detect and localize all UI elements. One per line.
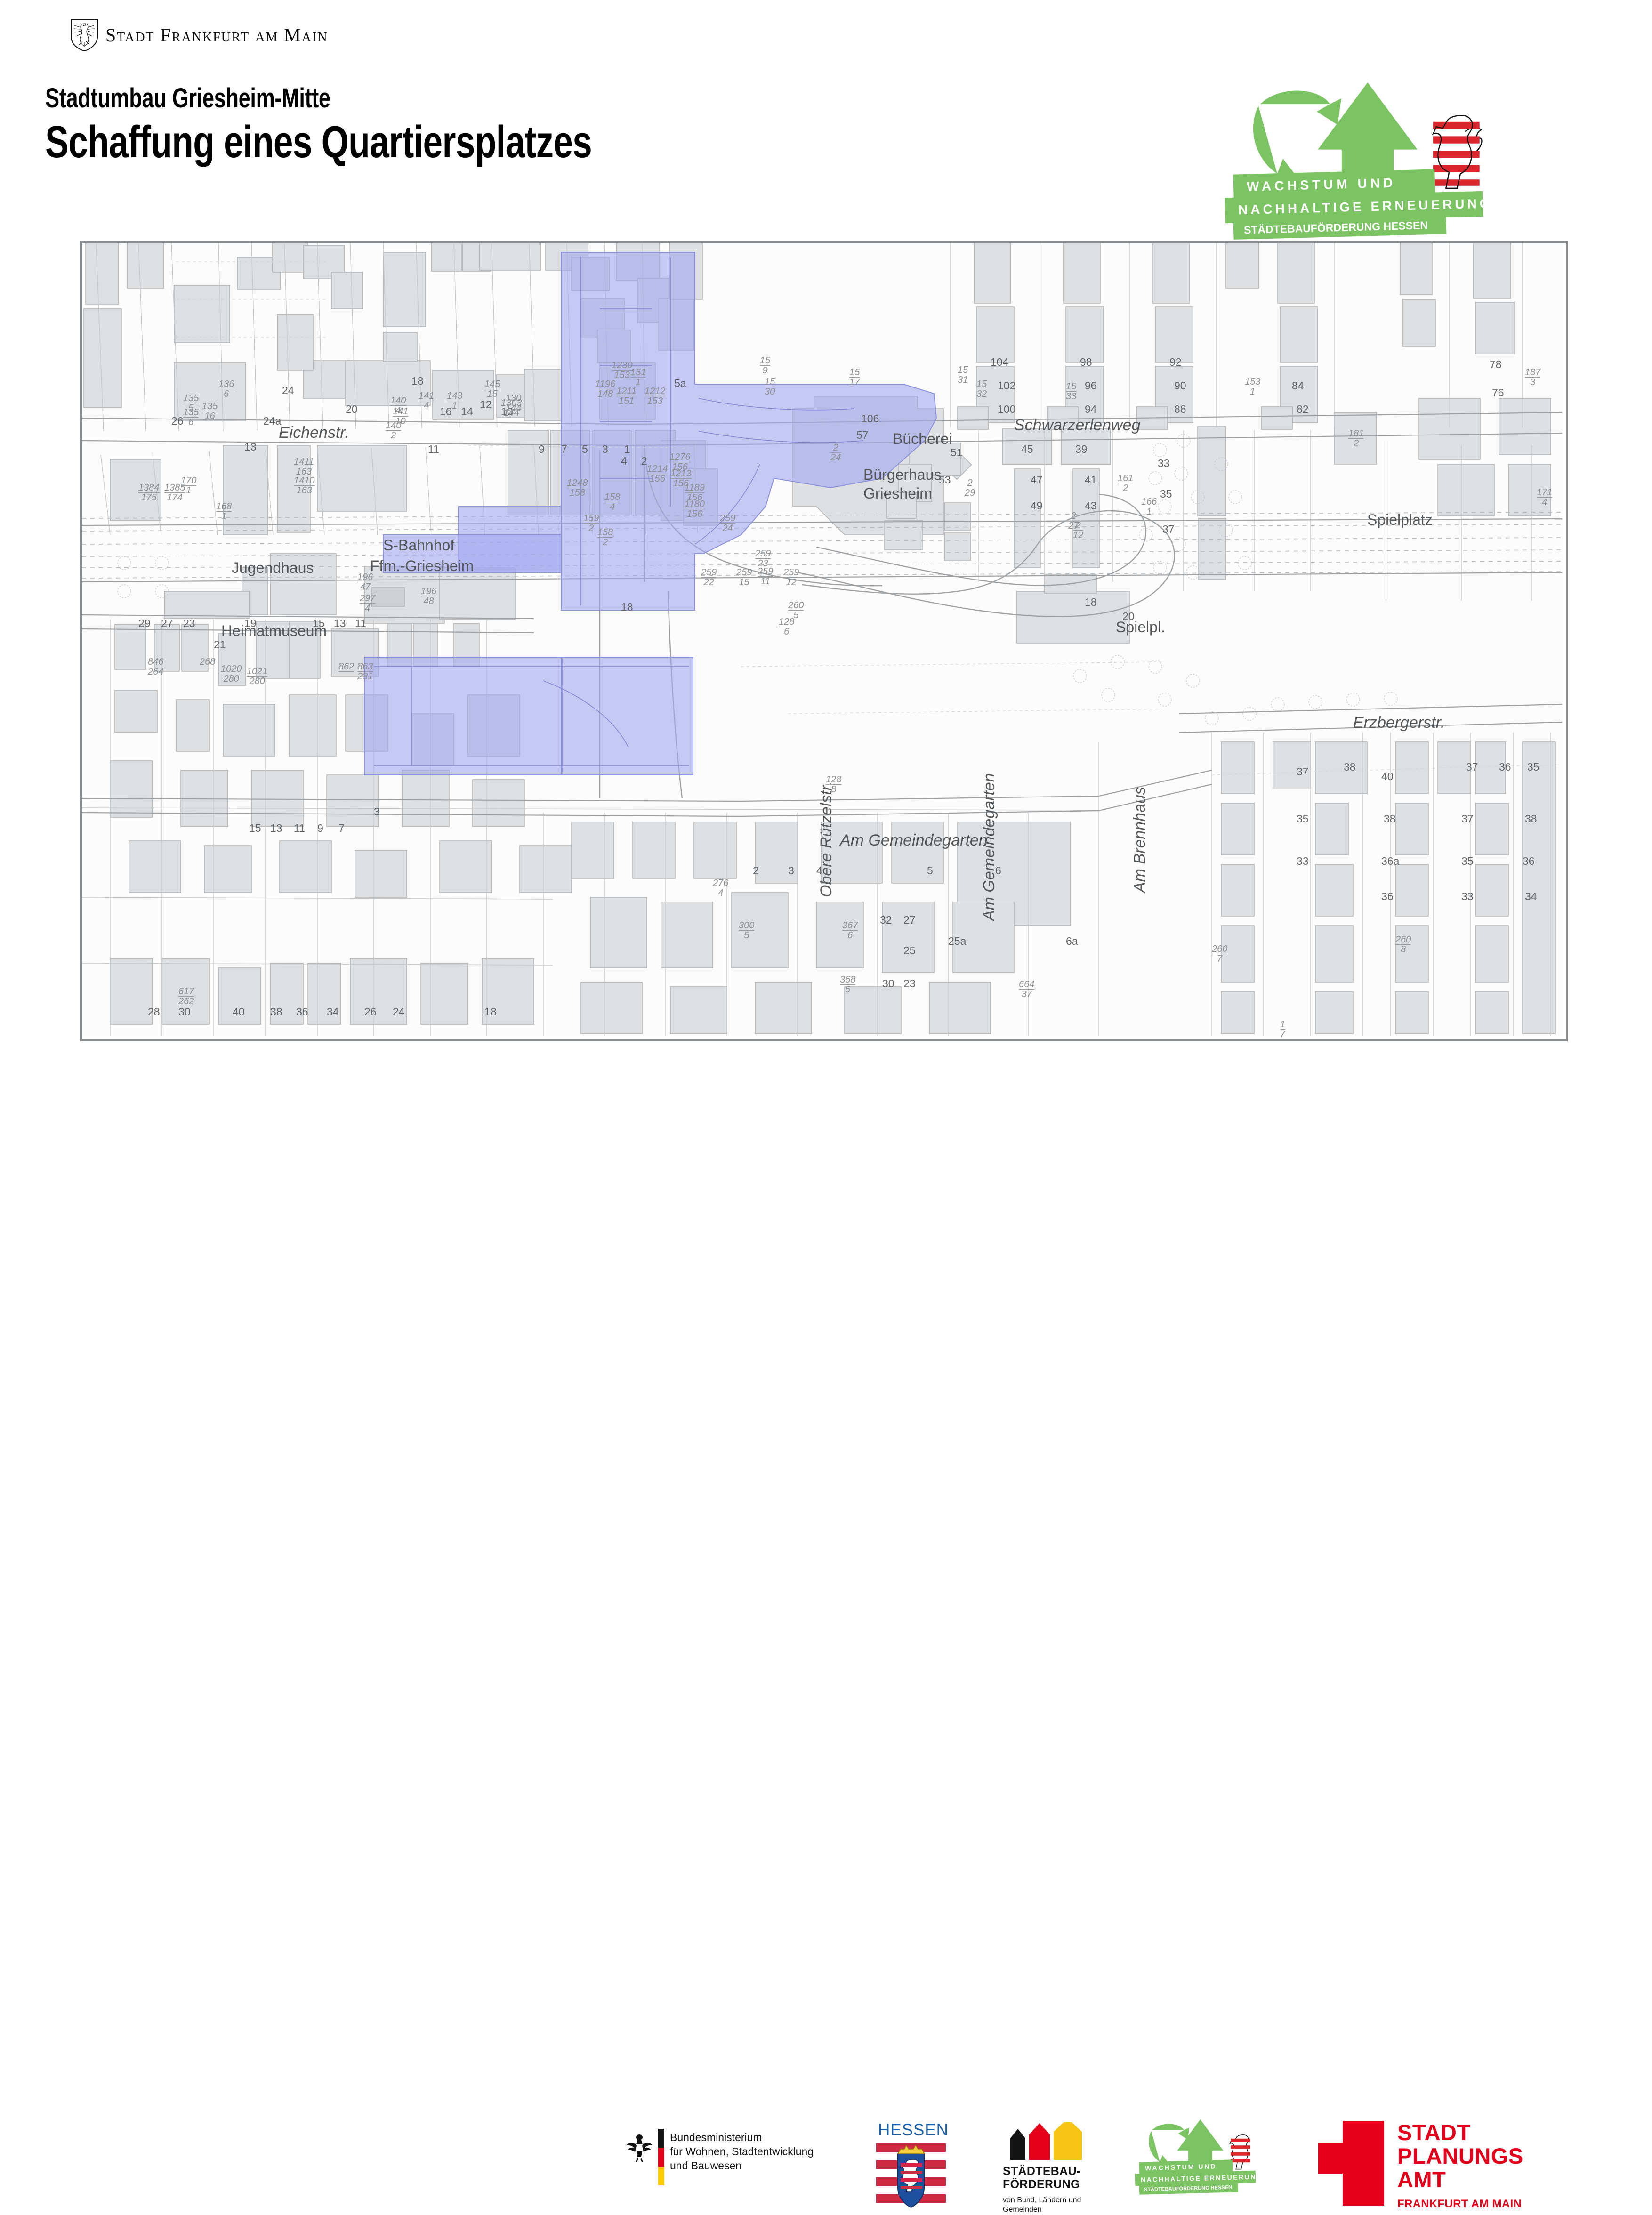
house-number: 36	[1381, 890, 1394, 903]
house-number: 19	[244, 617, 257, 630]
house-number: 13	[334, 617, 346, 630]
parcel-number: 1288	[826, 775, 841, 794]
house-number: 5	[927, 864, 933, 877]
house-number: 37	[1466, 761, 1478, 773]
page-kicker: Stadtumbau Griesheim-Mitte	[45, 85, 592, 112]
map-canvas[interactable]: Eichenstr. Schwarzerlenweg Am Gemeindega…	[82, 243, 1562, 1036]
house-number: 23	[903, 977, 916, 990]
house-number: 43	[1085, 499, 1097, 512]
house-number: 9	[539, 443, 545, 456]
house-number: 13	[244, 441, 257, 453]
city-logo-wordmark: Stadt Frankfurt am Main	[105, 24, 328, 46]
parcel-number: 1533	[1066, 382, 1076, 401]
house-number: 20	[1122, 610, 1135, 623]
house-number: 4	[621, 455, 627, 467]
parcel-number: 1592	[583, 514, 599, 533]
parcel-number: 1214156	[647, 464, 668, 483]
house-number: 27	[903, 914, 916, 926]
parcel-number: 1714	[1537, 488, 1552, 507]
house-number: 14	[461, 405, 473, 418]
house-number: 21	[214, 638, 226, 651]
house-number: 49	[1031, 499, 1043, 512]
parcel-number: 25911	[758, 567, 773, 586]
stadtplanungsamt-logo: STADT PLANUNGS AMT FRANKFURT AM MAIN	[1318, 2121, 1582, 2215]
parcel-number: 1248158	[567, 478, 588, 498]
house-number: 96	[1085, 379, 1097, 392]
hessen-coat-of-arms-icon	[873, 2142, 949, 2211]
parcel-number: 1530	[765, 377, 775, 396]
house-number: 2	[641, 455, 647, 467]
parcel-number: 1531	[1245, 377, 1260, 396]
parcel-number: 863281	[357, 662, 373, 681]
house-number: 40	[1381, 770, 1394, 783]
house-number: 104	[991, 356, 1008, 369]
house-number: 94	[1085, 403, 1097, 416]
house-number: 40	[233, 1006, 245, 1018]
house-number: 18	[621, 601, 633, 613]
house-number: 24	[393, 1006, 405, 1018]
house-number: 33	[1297, 855, 1309, 868]
house-number: 51	[951, 446, 963, 459]
house-number: 18	[484, 1006, 497, 1018]
parcel-number: 1661	[1141, 497, 1157, 516]
parcel-number: 229	[965, 478, 975, 498]
house-number: 38	[1384, 813, 1396, 825]
parcel-number: 268	[200, 657, 215, 667]
house-number: 25a	[948, 935, 966, 948]
parcel-number: 13516	[202, 402, 218, 421]
staedtebau-line2: FÖRDERUNG	[1003, 2178, 1111, 2191]
parcel-number: 1411163	[294, 457, 314, 476]
house-number: 26	[171, 415, 184, 427]
spa-line1: STADT	[1397, 2121, 1523, 2144]
house-number: 23	[183, 617, 195, 630]
house-number: 26	[364, 1006, 377, 1018]
house-number: 5a	[674, 377, 686, 390]
staedtebaufoerderung-logo: STÄDTEBAU- FÖRDERUNG von Bund, Ländern u…	[1003, 2123, 1111, 2213]
house-number: 36	[1499, 761, 1511, 773]
parcel-number: 1384175	[138, 483, 160, 502]
bmwsb-line3: und Bauwesen	[670, 2159, 814, 2173]
parcel-number: 3686	[840, 975, 855, 994]
house-number: 30	[178, 1006, 191, 1018]
house-number: 45	[1021, 443, 1033, 456]
house-number: 7	[561, 443, 567, 456]
spa-subline: FRANKFURT AM MAIN	[1397, 2198, 1523, 2211]
house-number: 36	[296, 1006, 308, 1018]
house-number: 34	[327, 1006, 339, 1018]
title-block: Stadtumbau Griesheim-Mitte Schaffung ein…	[45, 85, 746, 165]
parcel-number: 1356	[183, 408, 199, 427]
parcel-number: 3676	[842, 921, 858, 940]
bmwsb-line1: Bundesministerium	[670, 2131, 814, 2145]
hessen-wordmark: HESSEN	[873, 2121, 953, 2140]
bundesadler-icon	[626, 2132, 653, 2163]
house-number: 11	[355, 617, 366, 630]
house-number: 35	[1527, 761, 1539, 773]
staedtebau-line1: STÄDTEBAU-	[1003, 2165, 1111, 2178]
house-number: 35	[1297, 813, 1309, 825]
stadtplanungsamt-wordmark: STADT PLANUNGS AMT FRANKFURT AM MAIN	[1397, 2121, 1523, 2215]
house-number: 36	[1523, 855, 1535, 868]
parcel-number: 1531	[958, 365, 968, 385]
page-title: Schaffung eines Quartiersplatzes	[45, 120, 592, 165]
house-number: 15	[249, 822, 261, 835]
hessen-lion-icon	[1426, 111, 1483, 191]
parcel-number: 2764	[713, 878, 728, 898]
house-number: 1	[624, 443, 630, 456]
parcel-number: 159	[760, 356, 770, 375]
parcel-number: 1402	[386, 421, 401, 440]
parcel-number: 1701	[181, 476, 196, 495]
parcel-number: 1582	[597, 528, 613, 547]
house-number: 6a	[1066, 935, 1078, 948]
house-number: 57	[856, 429, 869, 442]
house-number: 24a	[263, 415, 281, 427]
bmwsb-wordmark: Bundesministerium für Wohnen, Stadtentwi…	[670, 2129, 814, 2173]
parcel-number: 25915	[736, 568, 752, 587]
house-number: 33	[1158, 457, 1170, 470]
house-number: 38	[1525, 813, 1537, 825]
parcel-number: 2974	[360, 594, 375, 613]
house-number: 28	[148, 1006, 160, 1018]
parcel-number: 25912	[783, 568, 799, 587]
parcel-number: 2607	[1212, 944, 1227, 964]
parcel-number: 2608	[1395, 935, 1411, 954]
parcel-number: 1230153	[612, 361, 633, 380]
parcel-number: 224	[830, 443, 841, 462]
house-number: 2	[753, 864, 759, 877]
house-number: 13	[270, 822, 282, 835]
hessen-logo: HESSEN	[873, 2121, 953, 2210]
house-number: 15	[313, 617, 325, 630]
house-number: 102	[998, 379, 1015, 392]
parcel-number: 1020280	[221, 664, 242, 684]
wachstum-und-nachhaltige-erneuerung-logo: WACHSTUM UND NACHHALTIGE ERNEUERUNG STÄD…	[1233, 82, 1591, 219]
parcel-number: 19648	[421, 587, 436, 606]
parcel-number: 25923	[755, 549, 771, 568]
spa-line3: AMT	[1397, 2168, 1523, 2191]
staedtebau-sub2: Gemeinden	[1003, 2205, 1111, 2215]
page-header: Stadt Frankfurt am Main Stadtumbau Gries…	[0, 0, 1652, 221]
parcel-number: 14515	[484, 379, 500, 399]
house-number: 100	[998, 403, 1015, 416]
parcel-number: 1584	[604, 492, 620, 512]
page-footer: Bundesministerium für Wohnen, Stadtentwi…	[0, 1055, 1652, 1168]
house-number: 29	[138, 617, 151, 630]
house-number: 39	[1075, 443, 1088, 456]
parcel-number: 617262	[178, 987, 194, 1006]
parcel-number: 1286	[779, 617, 794, 636]
house-number: 84	[1292, 379, 1304, 392]
house-number: 38	[270, 1006, 282, 1018]
house-number: 20	[346, 403, 358, 416]
cadastral-map[interactable]: Eichenstr. Schwarzerlenweg Am Gemeindega…	[80, 241, 1568, 1041]
house-number: 18	[411, 375, 424, 387]
house-number: 47	[1031, 474, 1043, 486]
staedtebau-sub1: von Bund, Ländern und	[1003, 2196, 1111, 2205]
parcel-number: 1511	[630, 368, 646, 387]
parcel-number: 1366	[218, 379, 234, 399]
house-number: 3	[788, 864, 794, 877]
house-number: 4	[816, 864, 822, 877]
parcel-number: 1021280	[247, 667, 268, 686]
house-number: 11	[294, 822, 305, 835]
parcel-number: 1812	[1348, 429, 1364, 448]
staedtebau-subline: von Bund, Ländern und Gemeinden	[1003, 2196, 1111, 2214]
parcel-number: 1180156	[685, 499, 705, 519]
house-number: 106	[861, 412, 879, 425]
house-number: 98	[1080, 356, 1092, 369]
wachstum-logo-small: WACHSTUM UND NACHHALTIGE ERNEUERUNG STÄD…	[1139, 2119, 1281, 2214]
house-number: 24	[282, 384, 294, 397]
house-number: 34	[1525, 890, 1537, 903]
house-number: 3	[374, 805, 380, 818]
house-number: 88	[1174, 403, 1186, 416]
parcel-number: 1414	[419, 391, 434, 411]
parcel-number: 17	[1280, 1020, 1285, 1039]
parcel-number: 1431	[447, 391, 462, 411]
house-number: 30	[882, 977, 894, 990]
house-number: 3	[602, 443, 608, 456]
house-number: 41	[1085, 474, 1097, 486]
german-flag-bar	[658, 2129, 664, 2185]
house-number: 37	[1162, 523, 1175, 536]
parcel-number: 1410163	[294, 476, 315, 495]
house-number: 6	[995, 864, 1001, 877]
parcel-number: 1612	[1118, 474, 1133, 493]
house-number: 37	[1461, 813, 1474, 825]
house-number: 76	[1492, 387, 1504, 399]
house-number: 9	[317, 822, 323, 835]
house-number: 92	[1169, 356, 1182, 369]
parcel-number: 25924	[720, 514, 735, 533]
house-number: 25	[903, 944, 916, 957]
house-number: 82	[1297, 403, 1309, 416]
staedtebau-wordmark: STÄDTEBAU- FÖRDERUNG	[1003, 2165, 1111, 2191]
parcel-number: 862	[338, 662, 354, 672]
parcel-number: 846264	[148, 657, 163, 677]
parcel-number: 1211151	[616, 387, 637, 406]
house-number: 35	[1160, 488, 1172, 500]
parcel-number: 66437	[1019, 980, 1034, 999]
house-number: 33	[1461, 890, 1474, 903]
bmwsb-logo: Bundesministerium für Wohnen, Stadtentwi…	[626, 2129, 847, 2190]
parcel-number: 1873	[1525, 368, 1540, 387]
frankfurt-eagle-crest-icon	[70, 18, 99, 52]
parcel-number: 1681	[216, 502, 232, 521]
house-number: 53	[939, 474, 951, 486]
parcel-number: 1303144	[501, 398, 522, 418]
house-number: 11	[428, 443, 439, 456]
house-number: 7	[338, 822, 345, 835]
stadtplanungsamt-mark-icon	[1318, 2121, 1384, 2206]
three-houses-icon	[1003, 2123, 1111, 2160]
house-number: 90	[1174, 379, 1186, 392]
house-number: 12	[480, 398, 492, 411]
wachstum-small-line3: STÄDTEBAUFÖRDERUNG HESSEN	[1139, 2183, 1238, 2194]
parcel-number: 19647	[357, 572, 373, 592]
parcel-number: 1212153	[645, 387, 666, 406]
parcel-number: 212	[1073, 521, 1083, 540]
parcel-number: 1196148	[595, 379, 615, 399]
house-number: 5	[582, 443, 588, 456]
bmwsb-line2: für Wohnen, Stadtentwicklung	[670, 2145, 814, 2159]
parcel-number: 1532	[976, 379, 987, 399]
parcel-number: 25922	[701, 568, 717, 587]
house-number: 36a	[1381, 855, 1399, 868]
map-vector-layer	[82, 243, 1562, 1036]
house-number: 27	[161, 617, 173, 630]
house-number: 78	[1490, 358, 1502, 371]
house-number: 35	[1461, 855, 1474, 868]
house-number: 37	[1297, 765, 1309, 778]
house-number: 38	[1344, 761, 1356, 773]
parcel-number: 1517	[849, 368, 860, 387]
house-number: 32	[880, 914, 892, 926]
city-logo: Stadt Frankfurt am Main	[70, 18, 371, 52]
parcel-number: 3005	[739, 921, 754, 940]
house-number: 18	[1085, 596, 1097, 609]
spa-line2: PLANUNGS	[1397, 2144, 1523, 2168]
